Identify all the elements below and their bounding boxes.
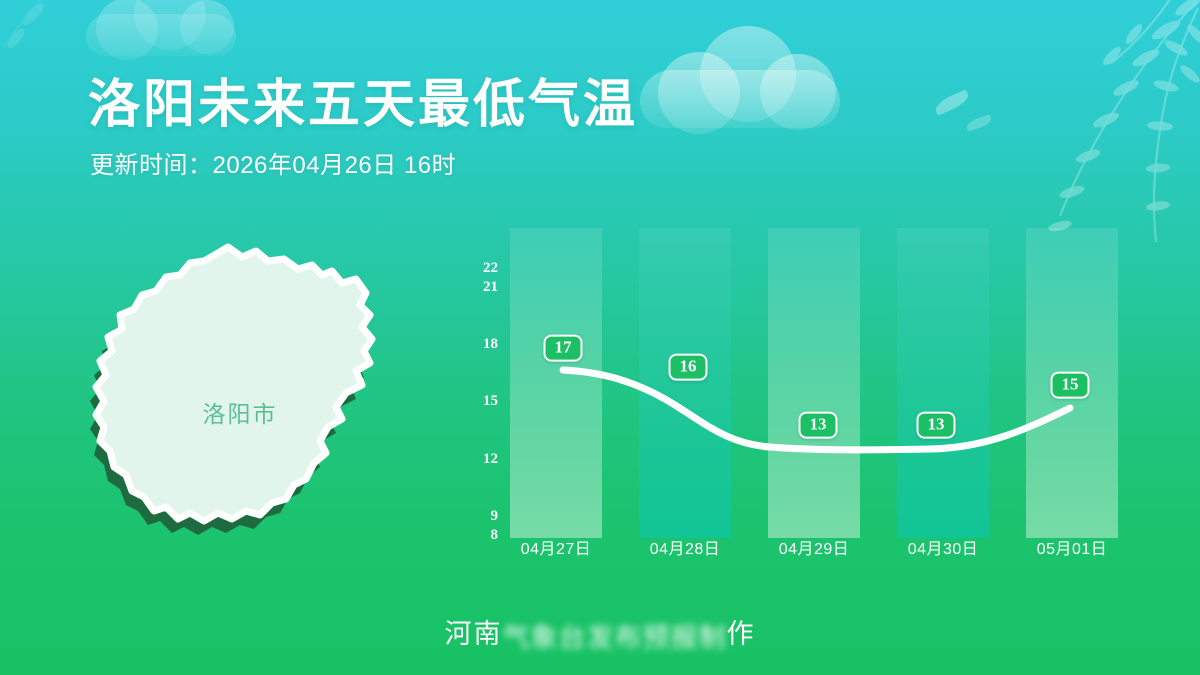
page-title: 洛阳未来五天最低气温 — [88, 62, 638, 137]
x-axis-label-4: 04月30日 — [883, 535, 1003, 559]
leaf-petal-icon-1 — [933, 89, 971, 116]
temperature-chart: 22 21 18 15 12 9 8 17 16 13 13 15 04月27日… — [440, 215, 1140, 575]
weather-infographic: 洛阳未来五天最低气温 更新时间：2026年04月26日 16时 洛阳市 22 2… — [0, 0, 1200, 675]
leaf-petal-icon-2 — [965, 114, 993, 132]
footer-credit: 河南气象台发布预报制作 — [0, 612, 1200, 655]
willow-branch-right-icon — [1026, 0, 1200, 250]
region-map: 洛阳市 — [70, 235, 410, 565]
x-axis-label-3: 04月29日 — [754, 535, 874, 559]
x-axis-label-1: 04月27日 — [496, 535, 616, 559]
data-point-badge-5: 15 — [1051, 372, 1090, 399]
x-axis-label-5: 05月01日 — [1012, 535, 1132, 559]
footer-prefix: 河南 — [445, 619, 503, 649]
data-point-badge-2: 16 — [669, 354, 708, 381]
data-point-badge-1: 17 — [544, 335, 583, 362]
x-axis-label-2: 04月28日 — [625, 535, 745, 559]
temperature-trend-line — [440, 215, 1140, 575]
cloud-icon-large — [640, 18, 840, 128]
update-time-label: 更新时间：2026年04月26日 16时 — [90, 145, 456, 180]
footer-suffix: 作 — [727, 619, 756, 649]
data-point-badge-3: 13 — [799, 412, 838, 439]
data-point-badge-4: 13 — [917, 412, 956, 439]
footer-redacted-text: 气象台发布预报制 — [503, 616, 727, 655]
